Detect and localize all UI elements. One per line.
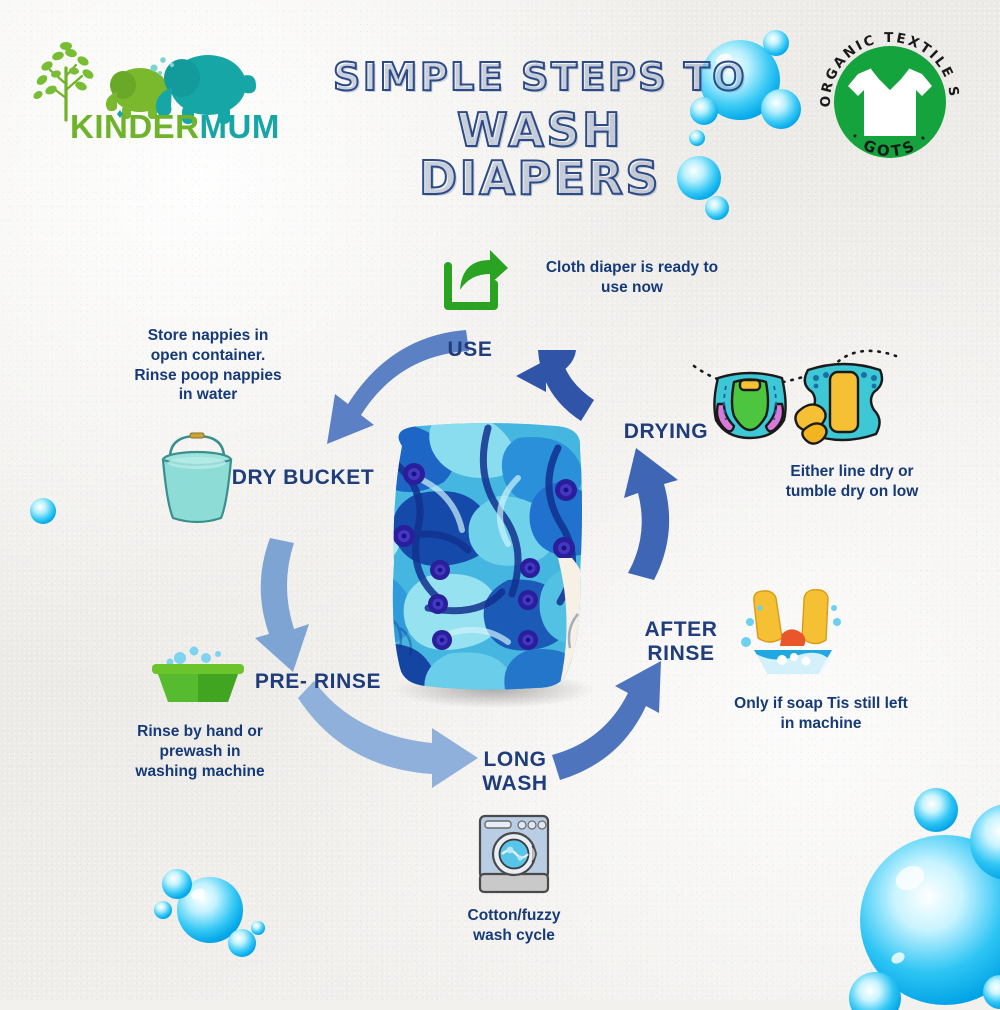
step-label-after-rinse: AFTER RINSE bbox=[608, 618, 754, 665]
step-caption-use: Cloth diaper is ready to use now bbox=[532, 258, 732, 298]
step-label-long-wash: LONG WASH bbox=[460, 748, 570, 795]
bubble-cluster-bottom-right bbox=[840, 770, 1000, 1010]
step-caption-long-wash: Cotton/fuzzy wash cycle bbox=[434, 906, 594, 946]
washing-machine-icon bbox=[474, 812, 554, 898]
step-caption-dry-bucket: Store nappies in open container. Rinse p… bbox=[118, 326, 298, 405]
arrow-dry-bucket-to-pre-rinse bbox=[255, 538, 309, 672]
step-caption-drying: Either line dry or tumble dry on low bbox=[762, 462, 942, 502]
gloves-washing-icon bbox=[742, 588, 844, 674]
cloth-diaper-image bbox=[368, 418, 612, 704]
logo-word-kinder: KINDER bbox=[70, 108, 200, 145]
arrow-drying-to-use bbox=[516, 350, 594, 421]
infographic-canvas: KINDERMUM SIMPLE STEPS TO WASH DIAPERS G… bbox=[0, 0, 1000, 1000]
bubble-small-left bbox=[26, 494, 60, 528]
page-title: SIMPLE STEPS TO WASH DIAPERS bbox=[330, 58, 750, 202]
step-caption-pre-rinse: Rinse by hand or prewash in washing mach… bbox=[110, 722, 290, 781]
brand-logo: KINDERMUM bbox=[22, 38, 272, 153]
diapers-on-line-icon bbox=[690, 352, 900, 462]
step-caption-after-rinse: Only if soap Tis still left in machine bbox=[716, 694, 926, 734]
step-label-use: USE bbox=[420, 338, 520, 362]
bubble-cluster-bottom-left bbox=[146, 858, 266, 978]
wash-basin-icon bbox=[146, 646, 250, 708]
step-label-drying: DRYING bbox=[602, 420, 730, 444]
gots-certification-badge: GLOBAL ORGANIC TEXTILE STANDARD · GOTS · bbox=[812, 24, 968, 180]
logo-wordmark: KINDERMUM bbox=[70, 110, 280, 143]
arrow-after-rinse-to-drying bbox=[624, 448, 678, 580]
title-line-2: WASH DIAPERS bbox=[330, 106, 750, 203]
share-arrow-icon bbox=[442, 250, 508, 312]
title-line-1: SIMPLE STEPS TO bbox=[330, 58, 750, 98]
logo-word-mum: MUM bbox=[200, 108, 280, 145]
step-label-dry-bucket: DRY BUCKET bbox=[228, 466, 378, 490]
step-label-pre-rinse: PRE- RINSE bbox=[248, 670, 388, 694]
